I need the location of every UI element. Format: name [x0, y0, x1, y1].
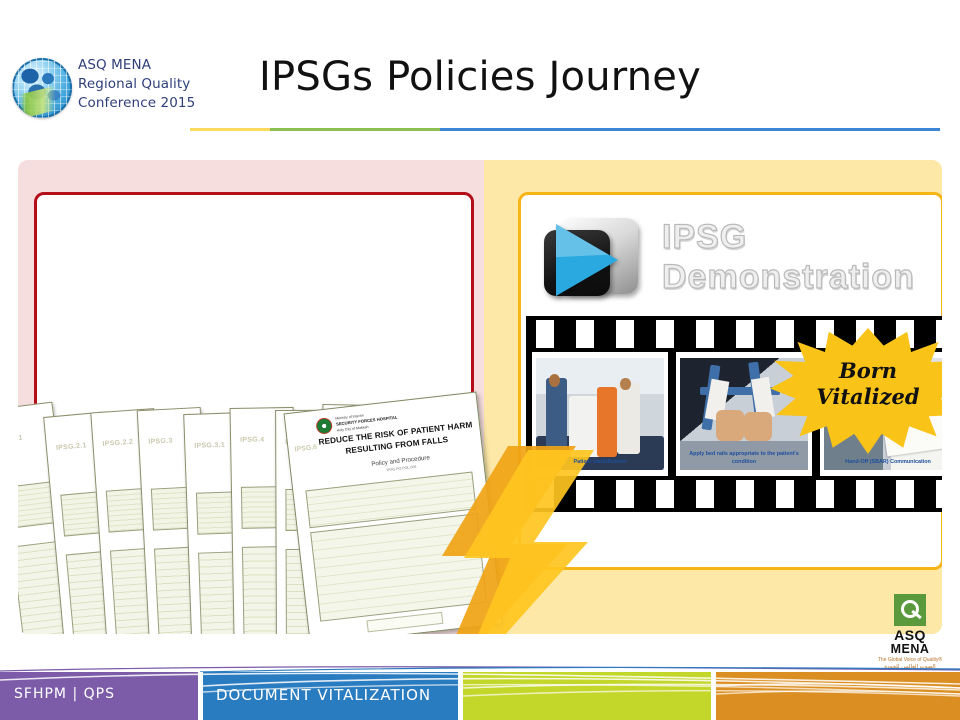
- asq-logo-line-1: ASQ: [866, 628, 954, 643]
- comparison-panels: IPSG.1 IPSG.2.1 IPSG.2.2 IPSG.3 IPSG.3.1…: [18, 160, 942, 634]
- badge-line-1: Born: [770, 358, 942, 384]
- play-button-icon[interactable]: [538, 214, 646, 302]
- footer-left-label: SFHPM | QPS: [14, 686, 115, 702]
- slide-canvas: ASQ MENA Regional Quality Conference 201…: [0, 0, 960, 720]
- ipsg-demo-header: IPSG Demonstration: [526, 202, 930, 314]
- doc-tag: IPSG.3.1: [194, 442, 225, 450]
- doc-tag: IPSG.1: [18, 435, 23, 445]
- footer-band-orange: [716, 672, 960, 720]
- doc-tag: IPSG.3: [148, 438, 173, 446]
- globe-icon: [12, 58, 72, 118]
- badge-line-2: Vitalized: [770, 384, 942, 410]
- footer-band-green: [463, 672, 711, 720]
- slide-footer: SFHPM | QPS DOCUMENT VITALIZATION: [0, 672, 960, 720]
- film-frame-caption: Hand-Off (SBAR) Communication: [822, 459, 942, 466]
- doc-tag: IPSG.2.2: [102, 439, 133, 448]
- status-badge: Born Vitalized: [770, 328, 942, 454]
- divider-segment-yellow: [190, 128, 270, 131]
- divider-segment-blue: [440, 128, 940, 131]
- film-frame-caption: Patient Identification: [534, 459, 666, 466]
- front-doc-tag: IPSG.6: [294, 444, 317, 454]
- asq-q-icon: [894, 594, 926, 626]
- divider-segment-green: [270, 128, 440, 131]
- doc-tag: IPSG.2.1: [56, 442, 87, 452]
- footer-center-label: DOCUMENT VITALIZATION: [216, 686, 431, 704]
- slide-header: ASQ MENA Regional Quality Conference 201…: [0, 0, 960, 150]
- asq-tagline-en: The Global Voice of Quality®: [866, 657, 954, 664]
- hospital-emblem-icon: [315, 417, 333, 435]
- title-divider: [190, 128, 940, 131]
- ipsg-demo-title: IPSG Demonstration: [662, 212, 930, 308]
- asq-mena-logo: ASQ MENA The Global Voice of Quality® ال…: [866, 594, 954, 668]
- film-frame-caption: Apply bed rails appropriate to the patie…: [678, 451, 810, 466]
- lightning-bolt-icon: [416, 446, 596, 634]
- doc-tag: IPSG.4: [240, 436, 264, 443]
- asq-logo-line-2: MENA: [866, 643, 954, 657]
- demo-title-line-1: IPSG: [662, 218, 747, 257]
- demo-title-line-2: Demonstration: [662, 258, 915, 297]
- page-title: IPSGs Policies Journey: [140, 48, 820, 108]
